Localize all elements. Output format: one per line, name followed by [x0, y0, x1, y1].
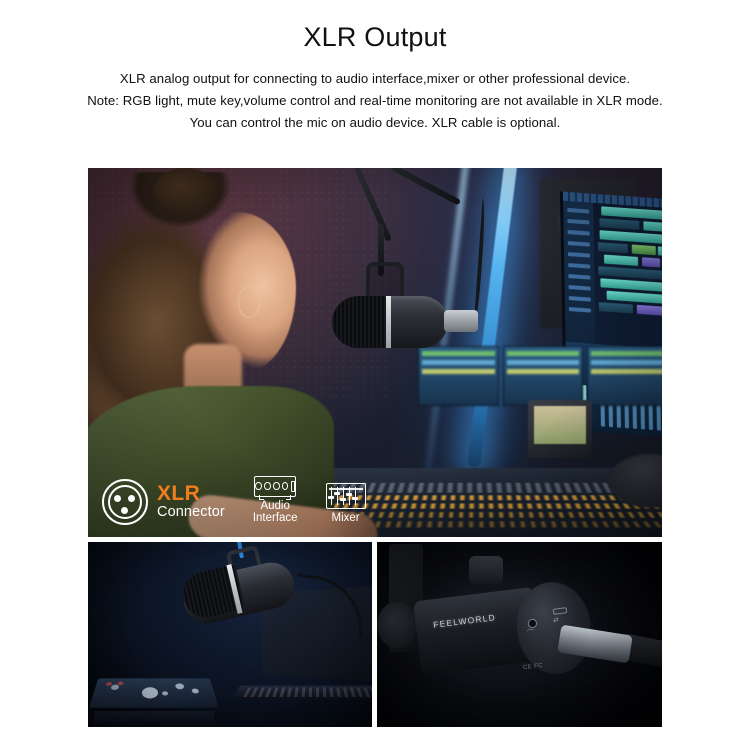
audio-interface-label-line2: Interface — [253, 512, 298, 525]
thumbnail-row: ⇄ ⌒ FEELWORLD CE FC — [88, 542, 662, 727]
mount-tension-knob — [377, 602, 417, 648]
image-gallery: XLR Connector Audio Interface — [88, 168, 662, 727]
desktop-audio-mixer — [89, 678, 219, 707]
daw-timeline-clips — [595, 204, 662, 350]
microphone-accent-ring — [386, 296, 391, 348]
xlr-connector-icon — [102, 479, 148, 525]
studio-podcast-scene: XLR Connector Audio Interface — [88, 168, 662, 537]
microphone-grille — [332, 296, 388, 348]
xlr-connector-badge: XLR Connector — [102, 479, 225, 525]
description-block: XLR analog output for connecting to audi… — [55, 68, 695, 134]
mixer-icon — [326, 483, 366, 509]
daw-track-list — [563, 201, 596, 355]
audio-interface-label-line1: Audio — [260, 500, 289, 513]
audio-interface-badge: Audio Interface — [253, 476, 298, 525]
xlr-badge-text: XLR Connector — [157, 484, 225, 521]
xlr-label: XLR — [157, 484, 225, 504]
mixer-label: Mixer — [332, 512, 360, 525]
audio-interface-icon — [254, 476, 296, 497]
mixer-badge: Mixer — [326, 483, 366, 525]
product-detail-page: XLR Output XLR analog output for connect… — [0, 0, 750, 750]
microphone-xlr-connector — [444, 310, 478, 332]
mic-with-laptop-and-mixer — [88, 542, 372, 727]
mic-top-knob — [469, 556, 503, 584]
person-hair-bun — [154, 168, 216, 212]
header: XLR Output XLR analog output for connect… — [0, 0, 750, 134]
console-talkback-monitor — [528, 400, 592, 458]
description-line-2: Note: RGB light, mute key,volume control… — [55, 90, 695, 112]
mic-xlr-port-closeup: ⇄ ⌒ FEELWORLD CE FC — [377, 542, 662, 727]
description-line-3: You can control the mic on audio device.… — [55, 112, 695, 134]
connector-label: Connector — [157, 504, 225, 521]
usb-icon: ⇄ — [553, 616, 560, 625]
console-meter-screens — [418, 346, 662, 406]
mixer-side-panel — [94, 711, 214, 727]
headphone-icon: ⌒ — [526, 628, 534, 639]
page-title: XLR Output — [0, 20, 750, 54]
laptop-keyboard — [231, 685, 372, 699]
person-hoop-earring — [238, 286, 260, 318]
description-line-1: XLR analog output for connecting to audi… — [55, 68, 695, 90]
xlr-overlay-badges: XLR Connector Audio Interface — [102, 476, 366, 525]
